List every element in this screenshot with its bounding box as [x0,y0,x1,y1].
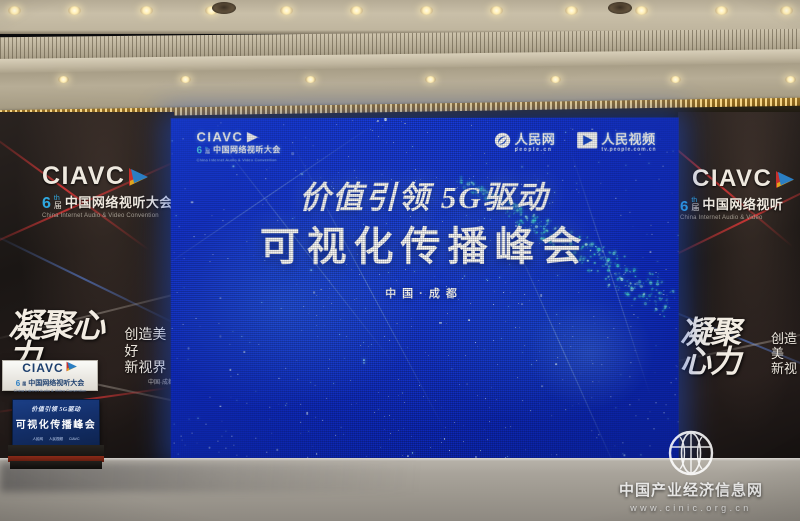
ceiling-spotlight [68,6,81,15]
banner-right-slogan-big: 凝聚心力 [680,318,769,377]
ciavc-arrow-icon [128,167,150,187]
partner-url-peoplecn: people.cn [515,148,556,153]
partner-name-peoplecn: 人民网 [515,133,556,146]
podium-logo-row: 人民网 人民视频 CIAVC [33,437,80,442]
ceiling-spotlight [565,6,578,15]
placard-word: CIAVC [22,362,63,374]
podium-logo-peoplevideo: 人民视频 [49,437,63,442]
ceiling-upper-plane [0,0,800,34]
circle-swoosh-icon [494,132,511,154]
banner-left-ordinal: 6 [42,197,51,211]
screen-ordinal-cn: 届 [205,150,210,155]
ceiling-spotlight [350,6,363,15]
backdrop-banner-right: CIAVC 6 th 届 中国网络视听 China Internet Audio [678,112,800,482]
ceiling-spotlight [715,6,728,15]
podium-sign: 价值引领 5G驱动 可视化传播峰会 人民网 人民视频 CIAVC [12,399,100,446]
ceiling-vent-icon [212,2,236,14]
placard-ordinal: 6 [16,379,20,388]
banner-right-name-cn: 中国网络视听 [702,194,783,213]
led-stage-screen: CIAVC 6 th 届 中国网络视听大会 China Internet Aud [171,118,679,461]
screen-ciavc-word: CIAVC [197,130,244,143]
ceiling-spotlight [425,76,436,83]
ceiling-spotlight [280,6,293,15]
placard-name-cn: 中国网络视听大会 [28,378,84,388]
banner-left-slogan-line2: 新视界 [124,359,174,375]
ciavc-placard: CIAVC 6 届 中国网络视听大会 China Internet Audio … [2,360,98,391]
stage-photo: CIAVC 6 th 届 中国网络视听大会 China Internet Aud [0,0,800,521]
placard-name-en: China Internet Audio & Video Convention [14,388,87,393]
screen-name-en: China Internet Audio & Video Convention [197,157,281,162]
ceiling-spotlight [635,6,648,15]
ceiling-spotlight [780,6,793,15]
banner-right-slogan: 凝聚心力 创造美 新视 [680,318,800,377]
ciavc-arrow-icon [775,170,796,189]
partner-logo-peoplevideo: 人民视频 tv.people.com.cn [577,132,656,154]
banner-right-ciavc-word: CIAVC [692,167,772,191]
partner-logo-peoplecn: 人民网 people.cn [494,132,556,154]
ceiling-spotlight [140,6,153,15]
screen-partner-logos: 人民网 people.cn 人民视频 tv.people.com.cn [494,132,657,154]
banner-left-name-en: China Internet Audio & Video Convention [42,213,173,219]
ciavc-arrow-icon [66,359,78,377]
screen-title-block: 价值引领 5G驱动 可视化传播峰会 中国·成都 [171,182,679,301]
banner-right-name-en: China Internet Audio & Video [680,215,796,221]
screen-city: 中国·成都 [171,285,679,301]
screen-ordinal: 6 [197,146,203,155]
ceiling-spotlight [180,76,191,83]
screen-name-cn: 中国网络视听大会 [213,144,281,155]
podium-line2: 可视化传播峰会 [16,416,97,431]
ceiling-spotlight [670,76,681,83]
screen-headline: 价值引领 5G驱动 [171,182,679,213]
banner-left-ciavc-word: CIAVC [42,164,125,189]
banner-left-slogan-line1: 创造美好 [124,326,174,358]
placard-ordinal-cn: 届 [22,381,26,387]
ceiling-spotlight [58,76,69,83]
banner-left-ordinal-cn: 届 [54,202,62,210]
ceiling-spotlight [305,76,316,83]
ceiling-spotlight [785,76,796,83]
banner-right-ordinal: 6 [680,200,688,214]
ceiling-vent-icon [608,2,632,14]
ceiling-spotlight [8,6,21,15]
ceiling-spotlight [490,6,503,15]
banner-right-ordinal-cn: 届 [691,204,699,212]
partner-name-peoplevideo: 人民视频 [601,133,656,146]
screen-subhead: 可视化传播峰会 [171,227,679,267]
screen-ciavc-lockup: CIAVC 6 th 届 中国网络视听大会 China Internet Aud [197,130,281,162]
podium-line1: 价值引领 5G驱动 [31,404,80,413]
podium: 价值引领 5G驱动 可视化传播峰会 人民网 人民视频 CIAVC [8,399,104,469]
podium-base-lower [10,461,102,469]
ceiling-spotlight [420,6,433,15]
podium-logo-peoplecn: 人民网 [33,437,44,442]
partner-url-peoplevideo: tv.people.com.cn [601,148,656,153]
ceiling-spotlight [550,76,561,83]
banner-left-name-cn: 中国网络视听大会 [65,192,173,211]
podium-logo-ciavc: CIAVC [69,437,79,441]
play-triangle-icon [577,132,597,154]
ciavc-arrow-icon [246,131,259,143]
banner-left-ciavc-lockup: CIAVC 6 th 届 中国网络视听大会 China Internet Aud [42,164,173,219]
banner-right-slogan-line2: 新视 [771,362,800,377]
banner-right-slogan-line1: 创造美 [771,332,800,362]
banner-right-ciavc-lockup: CIAVC 6 th 届 中国网络视听 China Internet Audio [692,167,796,221]
